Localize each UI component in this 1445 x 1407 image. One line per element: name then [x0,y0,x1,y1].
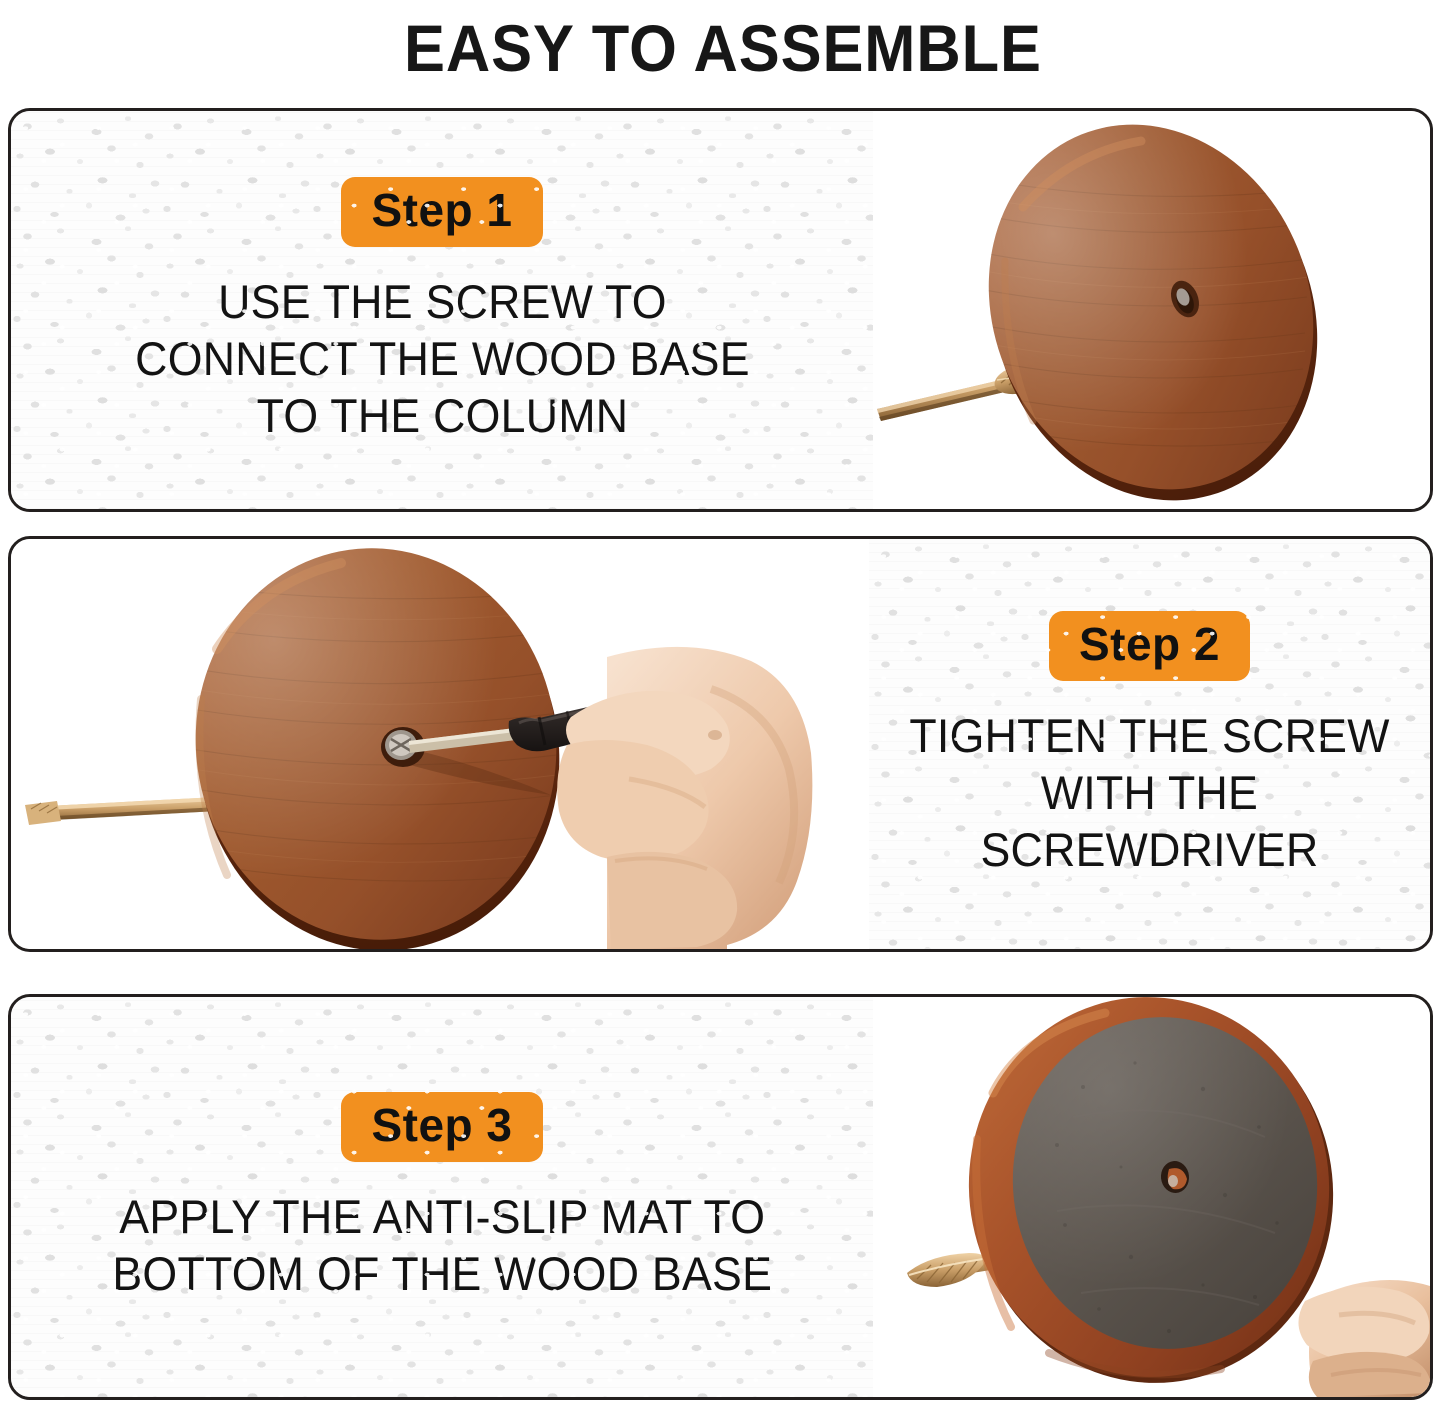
hand [557,647,812,949]
anti-slip-mat-illustration [873,997,1430,1397]
header: EASY TO ASSEMBLE [0,0,1445,96]
step-3-description: APPLY THE ANTI-SLIP MAT TO BOTTOM OF THE… [112,1188,772,1302]
wood-base-disc-illustration [873,111,1430,509]
step-2-badge: Step 2 [1049,611,1250,681]
step-1-badge: Step 1 [341,177,542,247]
step-2-description: TIGHTEN THE SCREW WITH THE SCREWDRIVER [883,707,1416,878]
brass-column-rod [25,797,218,825]
step-2-photo [11,539,869,949]
step-3-text-area: Step 3 APPLY THE ANTI-SLIP MAT TO BOTTOM… [11,997,873,1397]
step-2-text-area: Step 2 TIGHTEN THE SCREW WITH THE SCREWD… [869,539,1430,949]
step-1-text-area: Step 1 USE THE SCREW TO CONNECT THE WOOD… [11,111,873,509]
step-1-photo [873,111,1430,509]
screwdriver-tightening-illustration [11,539,869,949]
hand [1298,1280,1430,1397]
step-panel-1: Step 1 USE THE SCREW TO CONNECT THE WOOD… [8,108,1433,512]
brass-leaf-ornament [907,1253,985,1287]
page-title: EASY TO ASSEMBLE [404,15,1042,81]
step-3-badge: Step 3 [341,1092,542,1162]
step-panel-2: Step 2 TIGHTEN THE SCREW WITH THE SCREWD… [8,536,1433,952]
step-1-description: USE THE SCREW TO CONNECT THE WOOD BASE T… [135,273,750,444]
step-panel-3: Step 3 APPLY THE ANTI-SLIP MAT TO BOTTOM… [8,994,1433,1400]
step-3-photo [873,997,1430,1397]
